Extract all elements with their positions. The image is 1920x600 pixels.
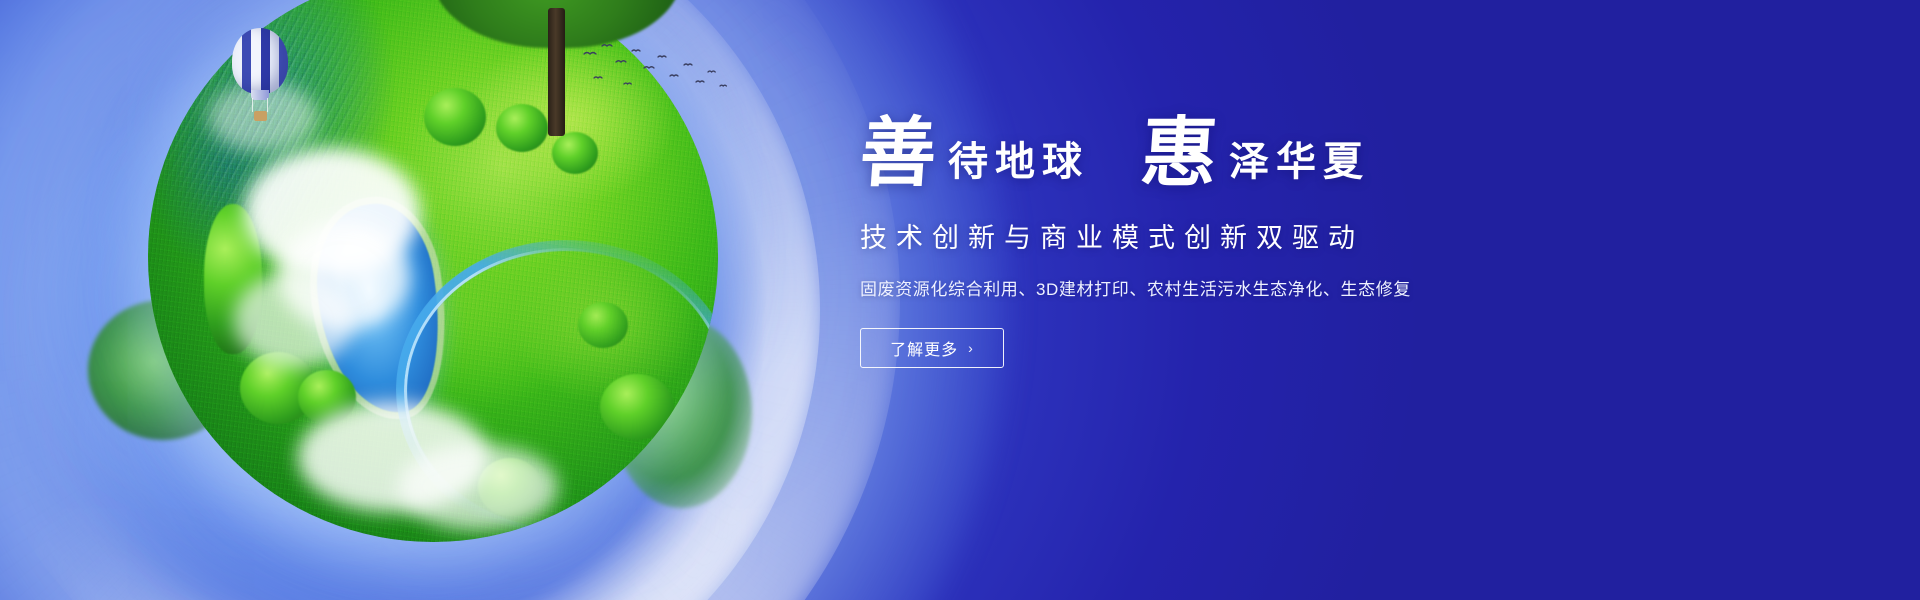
headline-char-large: 惠 — [1139, 120, 1220, 190]
learn-more-label: 了解更多 — [890, 336, 958, 360]
headline-char-large: 善 — [858, 120, 939, 190]
hero-description: 固废资源化综合利用、3D建材打印、农村生活污水生态净化、生态修复 — [860, 275, 1560, 300]
balloon-basket — [254, 111, 267, 121]
bird-flock-icon — [580, 38, 730, 100]
headline-chars-small: 泽华夏 — [1217, 142, 1370, 190]
chevron-right-icon: › — [968, 340, 974, 356]
balloon-lines — [252, 98, 268, 112]
tree — [578, 302, 628, 348]
hero-content: 善 待地球 惠 泽华夏 技术创新与商业模式创新双驱动 固废资源化综合利用、3D建… — [860, 120, 1560, 368]
tree — [552, 132, 598, 174]
hero-banner: 善 待地球 惠 泽华夏 技术创新与商业模式创新双驱动 固废资源化综合利用、3D建… — [0, 0, 1920, 600]
tree — [600, 374, 674, 440]
tree — [424, 88, 486, 146]
headline-phrase-2: 惠 泽华夏 — [1141, 120, 1370, 190]
page-title: 善 待地球 惠 泽华夏 — [860, 120, 1560, 190]
cloud — [234, 272, 354, 368]
hot-air-balloon-icon — [232, 28, 288, 124]
hero-subtitle: 技术创新与商业模式创新双驱动 — [860, 216, 1560, 255]
cloud — [398, 444, 558, 530]
tree — [496, 104, 548, 152]
headline-chars-small: 待地球 — [936, 142, 1089, 190]
balloon-envelope — [232, 28, 288, 94]
headline-phrase-1: 善 待地球 — [860, 120, 1089, 190]
learn-more-button[interactable]: 了解更多 › — [860, 328, 1004, 368]
